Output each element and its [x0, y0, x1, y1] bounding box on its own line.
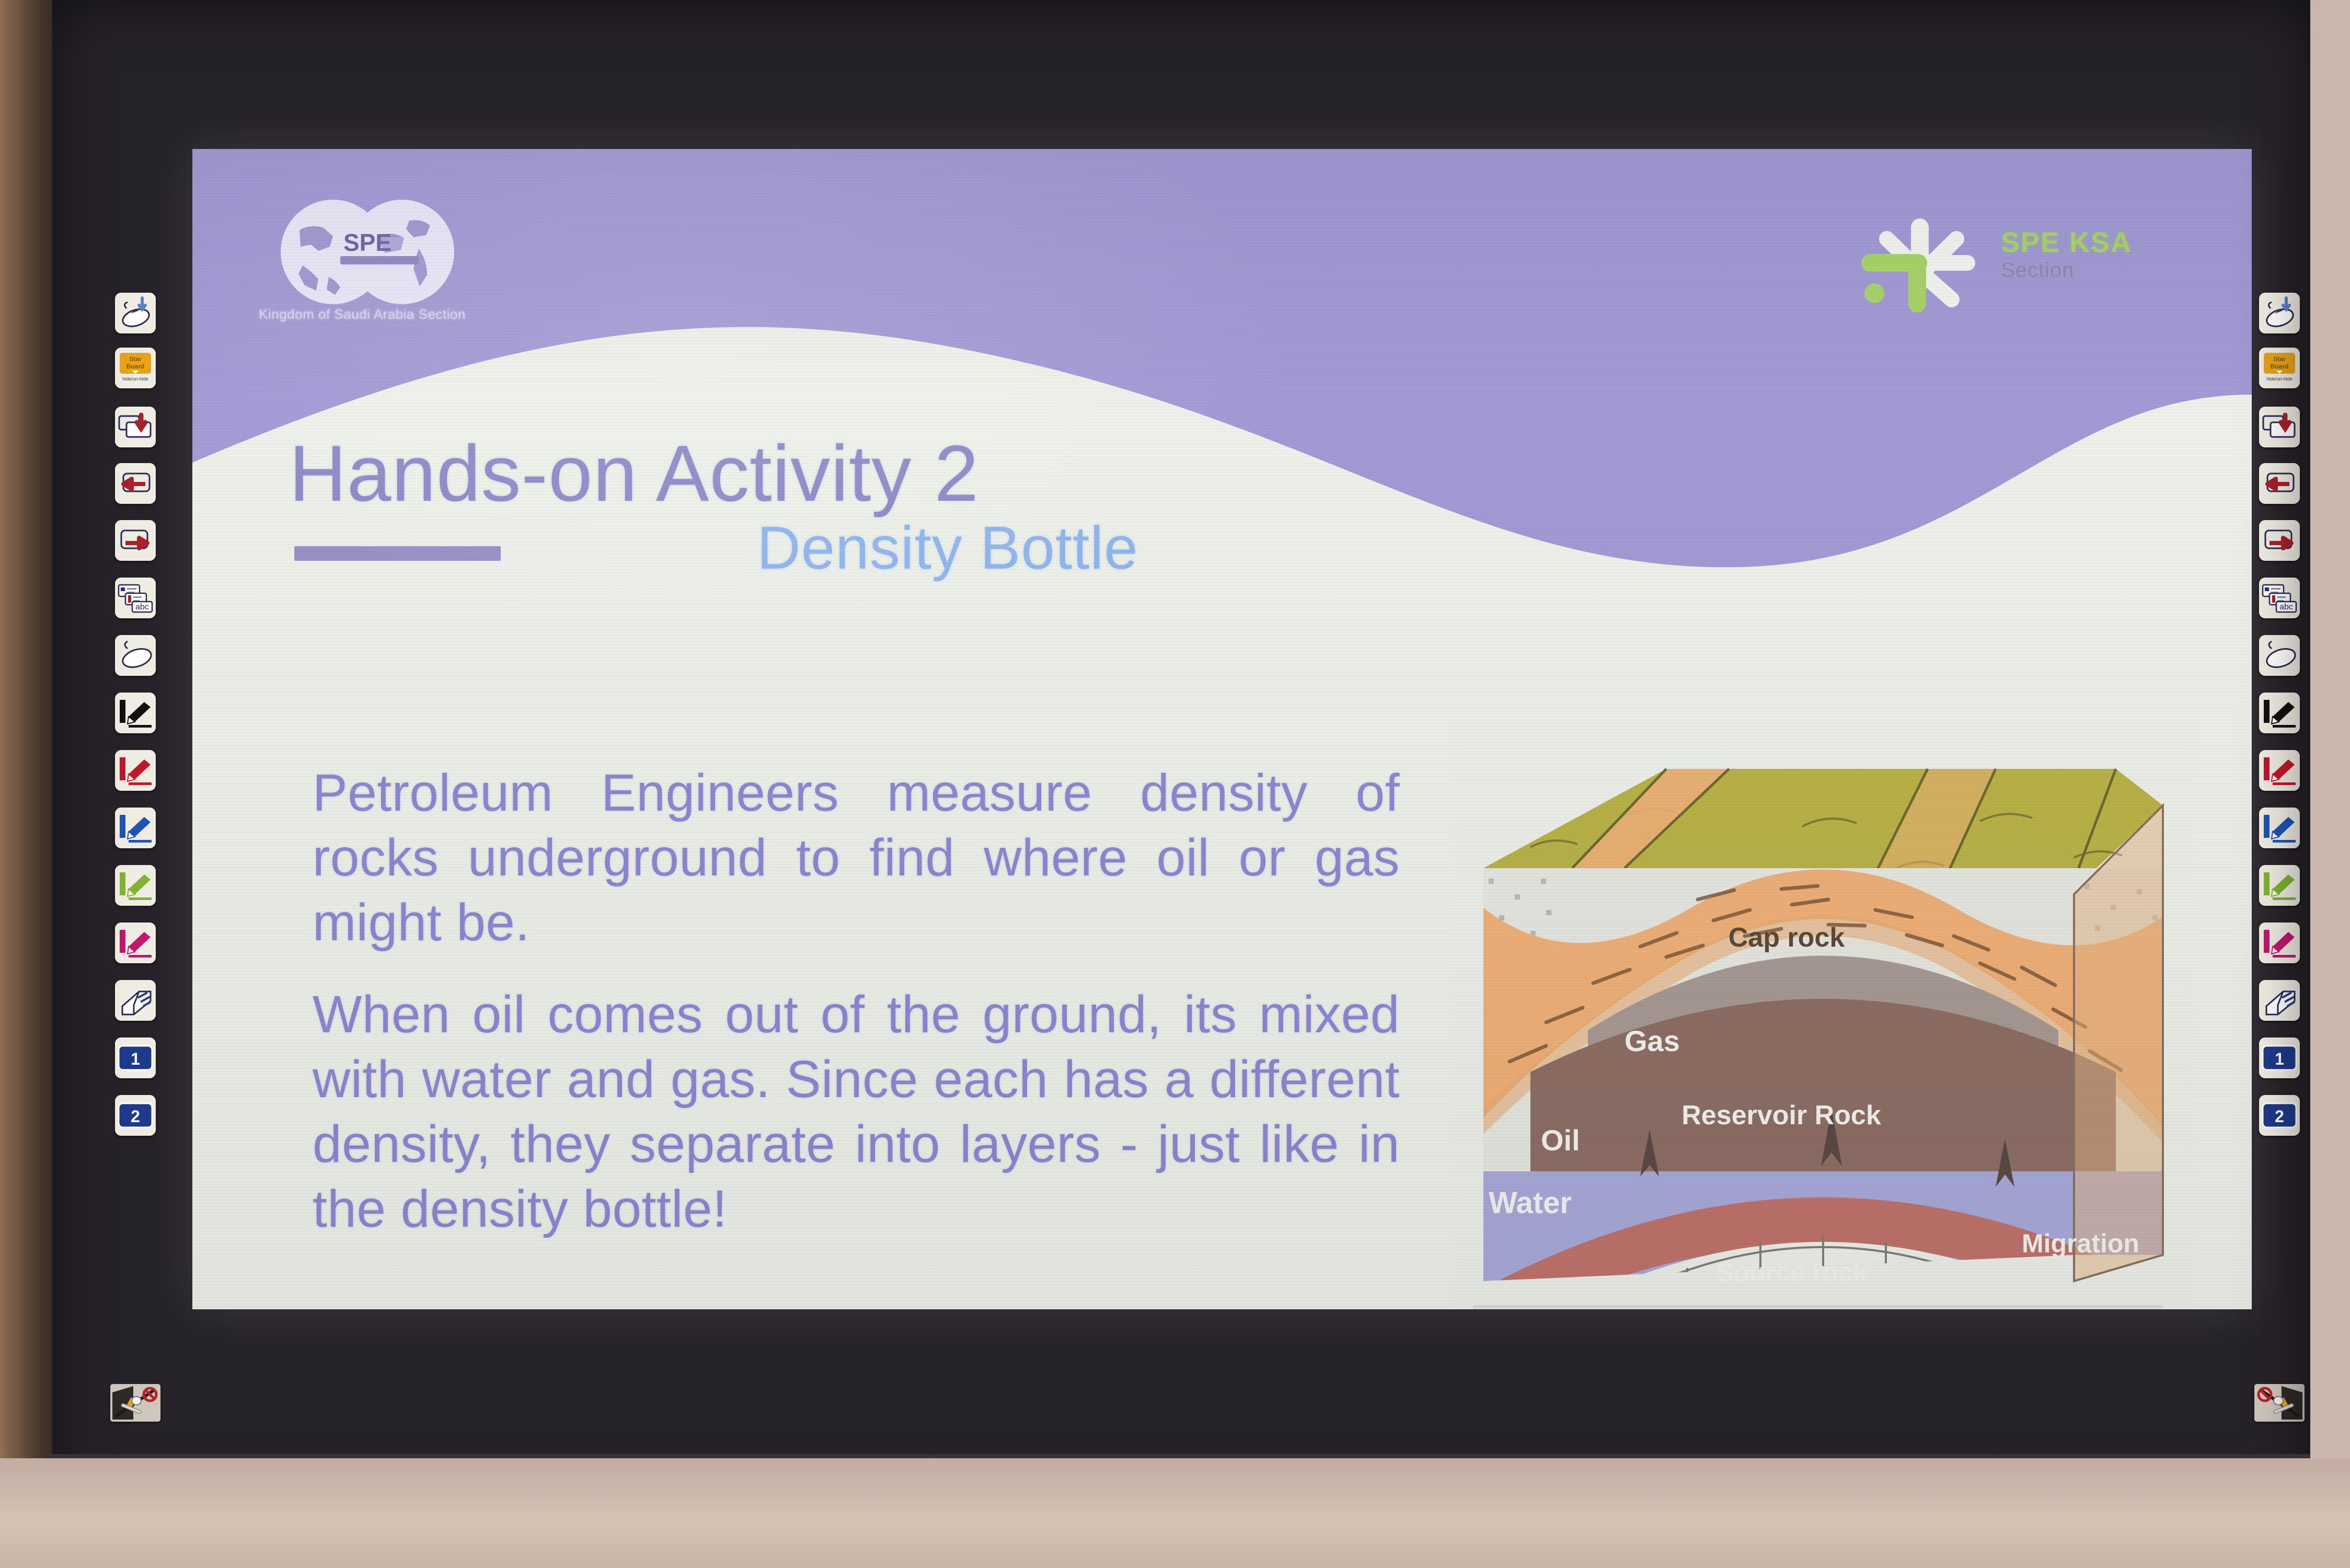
no-marker-warning-icon [110, 1384, 160, 1422]
label-migration: Migration [2022, 1229, 2139, 1258]
slide-title: Hands-on Activity 2 [289, 434, 979, 513]
page-forward-icon[interactable] [115, 520, 156, 561]
paragraph-1: Petroleum Engineers measure density of r… [313, 760, 1400, 955]
spe-mark-text: SPE [343, 229, 391, 256]
svg-text:2: 2 [2275, 1107, 2284, 1126]
pen-blue-icon[interactable] [115, 808, 156, 848]
title-underline-rule [294, 546, 501, 561]
slide-body-text: Petroleum Engineers measure density of r… [313, 760, 1400, 1241]
svg-text:abc: abc [2279, 603, 2293, 612]
label-cap-rock: Cap rock [1729, 923, 1845, 953]
svg-text:1: 1 [131, 1050, 140, 1068]
button-two-icon[interactable]: 2 [115, 1095, 156, 1136]
label-gas: Gas [1625, 1024, 1680, 1057]
pen-red-icon[interactable] [115, 750, 156, 791]
svg-text:Star: Star [2273, 355, 2286, 363]
spe-logo-caption: Kingdom of Saudi Arabia Section [250, 306, 475, 322]
svg-text:Star: Star [129, 355, 142, 363]
svg-text:hide/un-hide: hide/un-hide [2266, 376, 2293, 382]
toolbar-right: Star Board hide/un-hide [2249, 0, 2310, 1505]
mouse-click-icon[interactable] [2259, 293, 2300, 333]
pen-green-icon[interactable] [115, 865, 156, 906]
pen-black-icon[interactable] [115, 693, 156, 733]
reservoir-diagram-figure: Cap rock Gas Reservoir Rock Oil Water So… [1452, 724, 2194, 1309]
label-oil: Oil [1541, 1124, 1580, 1157]
button-two-icon[interactable]: 2 [2259, 1095, 2300, 1136]
spe-ksa-logo-right: SPE KSA Section [1849, 206, 2173, 327]
projected-slide: SPE Kingdom of Saudi Arabia Section [192, 149, 2252, 1309]
page-forward-icon[interactable] [2259, 520, 2300, 561]
label-source-rock: Source rock [1716, 1258, 1867, 1287]
button-one-icon[interactable]: 1 [2259, 1037, 2300, 1078]
svg-text:Board: Board [2271, 363, 2289, 370]
mouse-click-icon[interactable] [115, 293, 156, 333]
figure-baseline-shadow [1473, 1305, 2163, 1309]
svg-text:2: 2 [131, 1107, 140, 1126]
button-one-icon[interactable]: 1 [115, 1037, 156, 1078]
spe-ksa-asterisk-icon [1849, 212, 1990, 316]
window-capture-icon[interactable] [115, 407, 156, 447]
label-reservoir-rock: Reservoir Rock [1681, 1100, 1881, 1131]
interactive-whiteboard[interactable]: SPE Kingdom of Saudi Arabia Section [52, 0, 2310, 1505]
no-marker-warning-icon [2254, 1384, 2305, 1422]
page-back-icon[interactable] [2259, 463, 2300, 504]
pen-magenta-icon[interactable] [115, 923, 156, 963]
mouse-icon[interactable] [2259, 635, 2300, 676]
svg-text:Board: Board [126, 363, 145, 370]
svg-text:1: 1 [2275, 1050, 2284, 1068]
eraser-icon[interactable] [115, 980, 156, 1021]
spe-ksa-title: SPE KSA [2001, 228, 2132, 257]
svg-text:hide/un-hide: hide/un-hide [122, 376, 148, 382]
pen-green-icon[interactable] [2259, 865, 2300, 906]
wall-below-board [0, 1458, 2350, 1568]
text-abc-icon[interactable]: abc [115, 578, 156, 618]
pen-black-icon[interactable] [2259, 693, 2300, 733]
slide-subtitle: Density Bottle [757, 517, 1138, 578]
svg-text:abc: abc [135, 603, 149, 612]
page-back-icon[interactable] [115, 463, 156, 504]
eraser-icon[interactable] [2259, 980, 2300, 1021]
classroom-scene: SPE Kingdom of Saudi Arabia Section [0, 0, 2350, 1568]
spe-globe-logo-icon: SPE [279, 199, 456, 306]
mouse-icon[interactable] [115, 635, 156, 676]
paragraph-2: When oil comes out of the ground, its mi… [313, 982, 1400, 1241]
pen-blue-icon[interactable] [2259, 808, 2300, 848]
window-capture-icon[interactable] [2259, 407, 2300, 447]
text-abc-icon[interactable]: abc [2259, 578, 2300, 618]
reservoir-diagram: Cap rock Gas Reservoir Rock Oil Water So… [1468, 737, 2179, 1309]
spe-ksa-subtitle: Section [2001, 259, 2132, 282]
toolbar-left: Star Board hide/un-hide [105, 0, 166, 1505]
pen-magenta-icon[interactable] [2259, 923, 2300, 963]
pen-red-icon[interactable] [2259, 750, 2300, 791]
label-water: Water [1489, 1186, 1572, 1220]
spe-logo-left: SPE Kingdom of Saudi Arabia Section [250, 199, 475, 329]
starboard-hide-icon[interactable]: Star Board hide/un-hide [115, 348, 156, 388]
starboard-hide-icon[interactable]: Star Board hide/un-hide [2259, 348, 2300, 388]
